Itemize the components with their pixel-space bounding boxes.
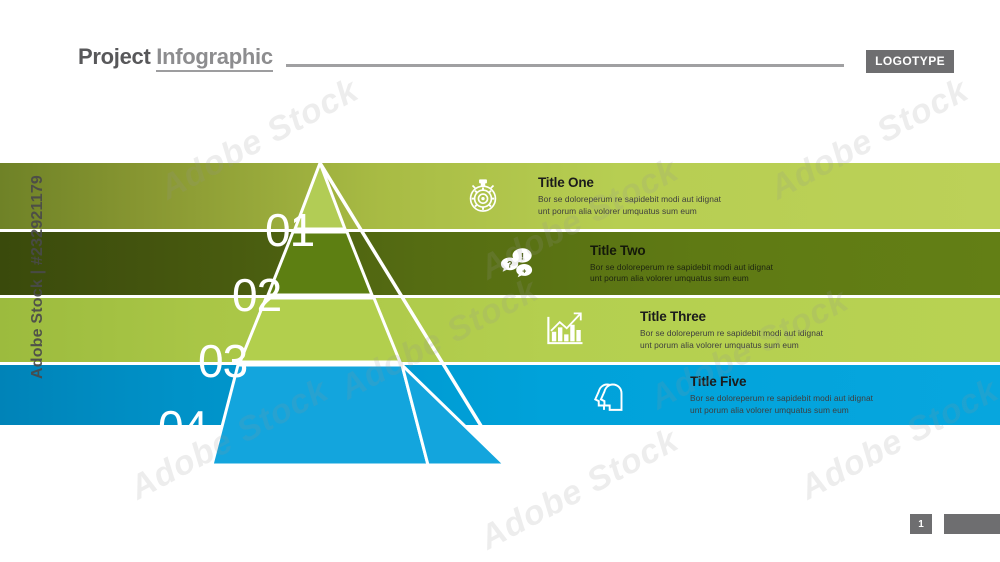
page-number-badge: 1: [910, 514, 932, 534]
pyramid-number-03: 03: [198, 338, 247, 384]
pyramid-number-04: 04: [158, 404, 207, 450]
pyramid-number-01: 01: [265, 207, 314, 253]
footer-bar: [944, 514, 1000, 534]
stock-watermark-side: Adobe Stock | #232921179: [29, 147, 47, 407]
pyramid-chart: [0, 0, 1000, 562]
pyramid-number-02: 02: [232, 272, 281, 318]
infographic-stage: Title One Bor se doloreperum re sapidebi…: [0, 0, 1000, 562]
